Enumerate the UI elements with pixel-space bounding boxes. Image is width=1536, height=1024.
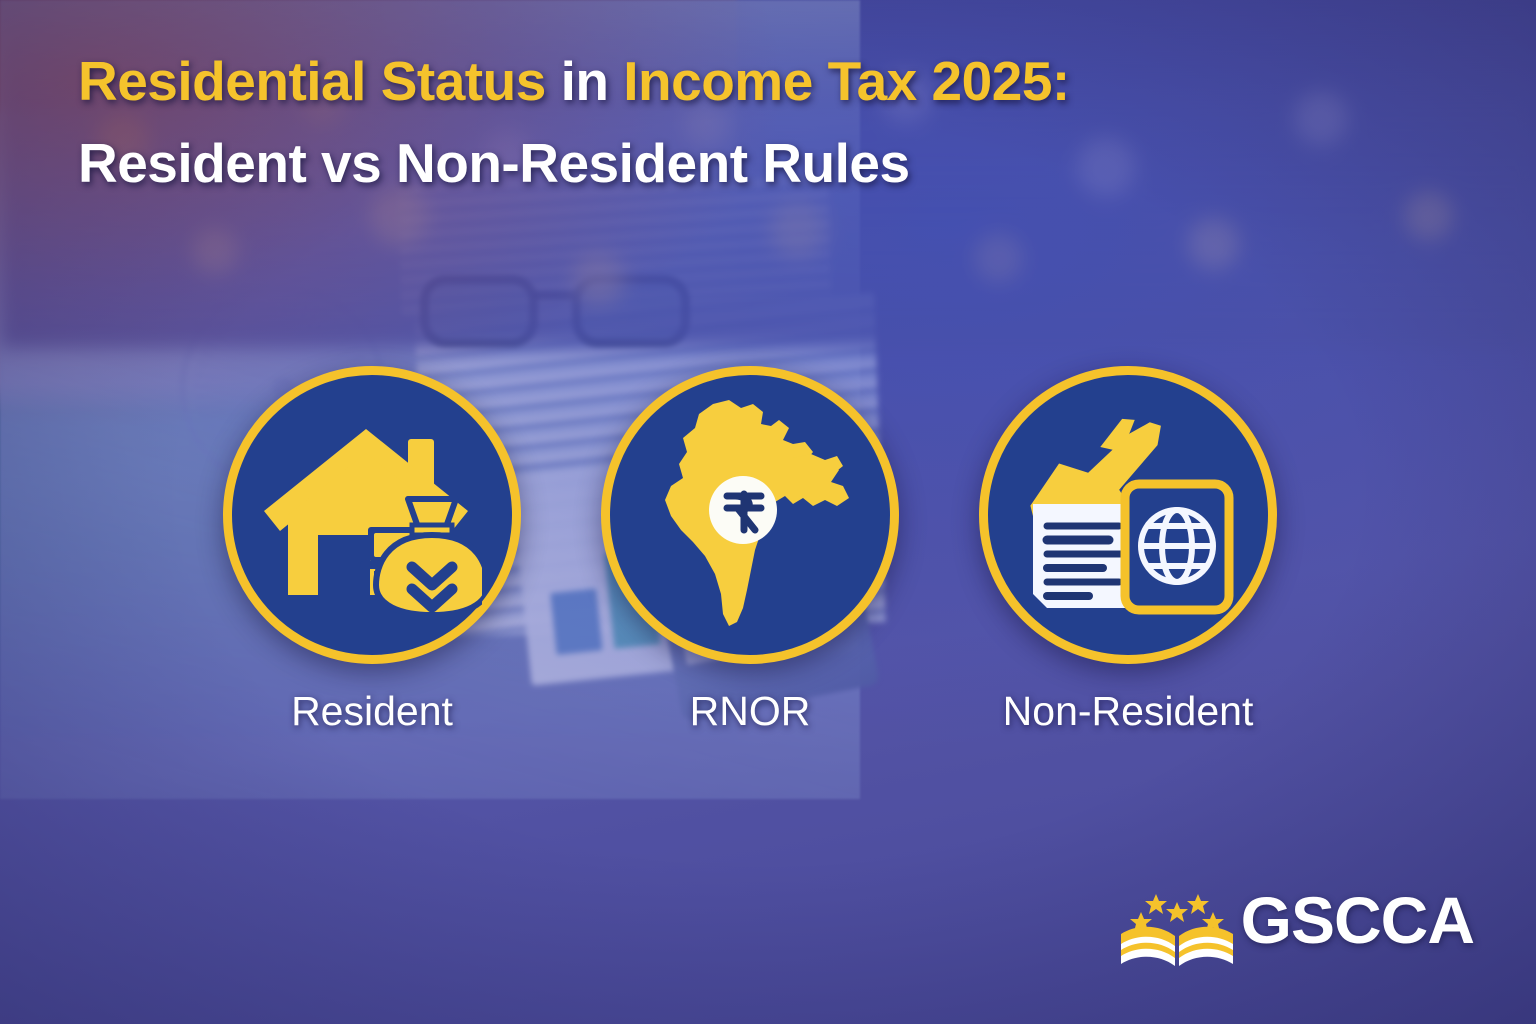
status-card-label-non-resident: Non-Resident bbox=[1003, 688, 1254, 735]
status-card-row: Resident bbox=[0, 366, 1400, 735]
rnor-icon-circle[interactable] bbox=[601, 366, 899, 664]
poster-canvas: Residential Status in Income Tax 2025: R… bbox=[0, 0, 1536, 1024]
title-segment-income-tax-2025: Income Tax 2025: bbox=[623, 50, 1069, 112]
page-title: Residential Status in Income Tax 2025: R… bbox=[78, 52, 1378, 193]
gscca-logo[interactable]: GSCCA bbox=[1119, 872, 1474, 968]
resident-icon-circle[interactable] bbox=[223, 366, 521, 664]
status-card-rnor[interactable]: RNOR bbox=[600, 366, 900, 735]
title-segment-in: in bbox=[561, 50, 624, 112]
title-segment-residential-status: Residential Status bbox=[78, 50, 561, 112]
status-card-label-resident: Resident bbox=[291, 688, 453, 735]
house-money-icon bbox=[262, 415, 482, 615]
logo-wordmark: GSCCA bbox=[1241, 882, 1474, 958]
airplane-passport-icon bbox=[1013, 408, 1243, 623]
status-card-resident[interactable]: Resident bbox=[222, 366, 522, 735]
india-map-rupee-icon bbox=[643, 398, 858, 633]
non-resident-icon-circle[interactable] bbox=[979, 366, 1277, 664]
status-card-label-rnor: RNOR bbox=[690, 688, 811, 735]
title-line-2: Resident vs Non-Resident Rules bbox=[78, 134, 1378, 192]
title-line-1: Residential Status in Income Tax 2025: bbox=[78, 52, 1378, 110]
status-card-non-resident[interactable]: Non-Resident bbox=[978, 366, 1278, 735]
open-book-with-stars-icon bbox=[1119, 872, 1235, 968]
